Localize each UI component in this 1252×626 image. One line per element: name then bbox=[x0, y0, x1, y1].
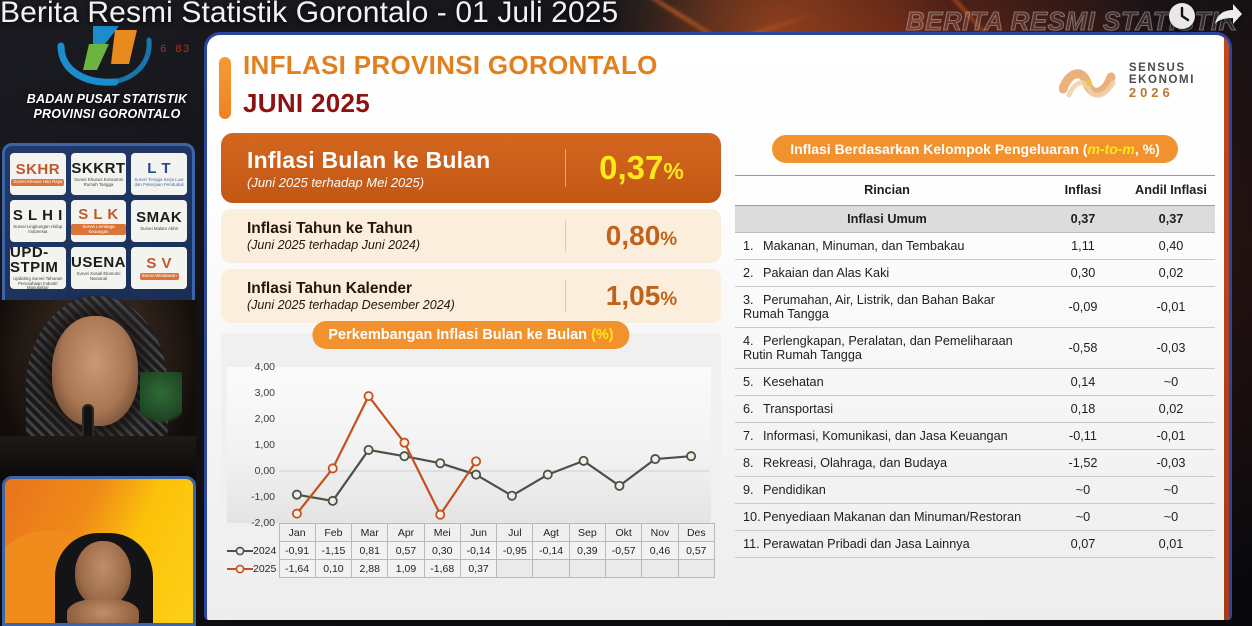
survey-card-sub: Survei Lembaga Keuangan bbox=[71, 224, 127, 236]
chart-value-cell: -0,57 bbox=[606, 542, 642, 560]
survey-card: S L KSurvei Lembaga Keuangan bbox=[71, 200, 127, 242]
card-sublabel: (Juni 2025 terhadap Juni 2024) bbox=[247, 238, 565, 252]
legend-label: 2025 bbox=[253, 563, 276, 575]
survey-card: UPD-STPIMUpdating Survei Tahunan Perusah… bbox=[10, 247, 66, 289]
video-action-bar bbox=[1166, 0, 1244, 32]
chart-value-cell: -1,64 bbox=[279, 560, 315, 578]
summary-name: Inflasi Umum bbox=[735, 206, 1039, 233]
slide-header: INFLASI PROVINSI GORONTALO JUNI 2025 SEN… bbox=[207, 35, 1229, 133]
summary-andil: 0,37 bbox=[1127, 206, 1215, 233]
chart-value-cell: -0,91 bbox=[279, 542, 315, 560]
left-column: Inflasi Bulan ke Bulan(Juni 2025 terhada… bbox=[221, 133, 721, 575]
expenditure-group-table: Rincian Inflasi Andil Inflasi Inflasi Um… bbox=[735, 175, 1215, 558]
col-header-inflasi: Inflasi bbox=[1039, 176, 1127, 206]
col-header-andil: Andil Inflasi bbox=[1127, 176, 1215, 206]
series-line-2025 bbox=[297, 396, 476, 515]
table-row: 8.Rekreasi, Olahraga, dan Budaya-1,52-0,… bbox=[735, 450, 1215, 477]
right-column: Inflasi Berdasarkan Kelompok Pengeluaran… bbox=[735, 133, 1215, 575]
legend-marker: 2025 bbox=[227, 563, 279, 575]
chart-value-cell bbox=[533, 560, 569, 578]
survey-card: SKHRSurvei Khusus Hari Raya bbox=[10, 153, 66, 195]
row-number: 6. bbox=[743, 402, 763, 416]
month-header: Nov bbox=[642, 524, 678, 542]
video-title: Berita Resmi Statistik Gorontalo - 01 Ju… bbox=[0, 0, 618, 30]
y-axis-tick: 0,00 bbox=[231, 465, 275, 477]
row-andil: ~0 bbox=[1127, 369, 1215, 396]
bps-logo: BADAN PUSAT STATISTIK PROVINSI GORONTALO bbox=[18, 16, 196, 122]
survey-card-sub: Survei Khusus Konsumsi Rumah Tangga bbox=[71, 178, 127, 188]
row-name: 10.Penyediaan Makanan dan Minuman/Restor… bbox=[735, 504, 1039, 531]
data-point-2024 bbox=[615, 482, 623, 490]
data-point-2024 bbox=[293, 491, 301, 499]
data-point-2025 bbox=[472, 457, 480, 465]
table-header-row: Rincian Inflasi Andil Inflasi bbox=[735, 176, 1215, 206]
row-number: 7. bbox=[743, 429, 763, 443]
table-body: Inflasi Umum0,370,371.Makanan, Minuman, … bbox=[735, 206, 1215, 558]
chart-value-cell: -0,14 bbox=[533, 542, 569, 560]
data-point-2024 bbox=[364, 446, 372, 454]
y-axis-tick: -2,00 bbox=[231, 517, 275, 529]
survey-card-code: SKHR bbox=[16, 162, 61, 177]
presenter-desk bbox=[0, 436, 196, 480]
row-number: 1. bbox=[743, 239, 763, 253]
sign-language-inset bbox=[2, 476, 196, 626]
month-header: Des bbox=[678, 524, 714, 542]
sensus-mark-icon bbox=[1059, 59, 1121, 103]
row-name: 6.Transportasi bbox=[735, 396, 1039, 423]
month-header: Okt bbox=[606, 524, 642, 542]
legend-marker: 2024 bbox=[227, 545, 279, 557]
table-row-summary: Inflasi Umum0,370,37 bbox=[735, 206, 1215, 233]
decorative-plant bbox=[140, 372, 182, 432]
clock-icon[interactable] bbox=[1166, 0, 1198, 32]
row-inflasi: -1,52 bbox=[1039, 450, 1127, 477]
survey-card-sub: Updating Survei Tahunan Perusahaan Indus… bbox=[10, 277, 66, 289]
card-calendar-year: Inflasi Tahun Kalender(Juni 2025 terhada… bbox=[221, 269, 721, 323]
legend-line-icon bbox=[227, 563, 253, 575]
chart-panel: Perkembangan Inflasi Bulan ke Bulan (%) … bbox=[221, 333, 721, 575]
survey-card: SMAKSurvei Malam Akhir bbox=[131, 200, 187, 242]
month-header: Sep bbox=[569, 524, 605, 542]
y-axis-tick: -1,00 bbox=[231, 491, 275, 503]
row-andil: ~0 bbox=[1127, 477, 1215, 504]
chart-value-cell bbox=[497, 560, 533, 578]
group-table-title: Inflasi Berdasarkan Kelompok Pengeluaran… bbox=[772, 135, 1178, 163]
video-stage: BADAN PUSAT STATISTIK PROVINSI GORONTALO… bbox=[0, 0, 1252, 626]
legend-2025: 2025 bbox=[227, 560, 279, 578]
group-title-italic: m-to-m bbox=[1087, 141, 1134, 157]
data-point-2024 bbox=[687, 452, 695, 460]
card-label: Inflasi Tahun Kalender bbox=[247, 280, 565, 298]
data-point-2024 bbox=[329, 497, 337, 505]
chart-table-header-row: JanFebMarAprMeiJunJulAgtSepOktNovDes bbox=[227, 524, 715, 542]
card-label: Inflasi Bulan ke Bulan bbox=[247, 147, 565, 174]
header-accent-bar bbox=[219, 57, 231, 119]
chart-value-cell: 2,88 bbox=[352, 560, 388, 578]
row-name: 3.Perumahan, Air, Listrik, dan Bahan Bak… bbox=[735, 287, 1039, 328]
survey-card-code: L T bbox=[147, 161, 171, 176]
card-sublabel: (Juni 2025 terhadap Mei 2025) bbox=[247, 175, 565, 190]
row-number: 2. bbox=[743, 266, 763, 280]
inflation-cards: Inflasi Bulan ke Bulan(Juni 2025 terhada… bbox=[221, 133, 721, 323]
month-header: Agt bbox=[533, 524, 569, 542]
bps-mark-icon bbox=[53, 20, 161, 90]
data-point-2024 bbox=[651, 455, 659, 463]
row-inflasi: 0,30 bbox=[1039, 260, 1127, 287]
row-inflasi: 0,07 bbox=[1039, 531, 1127, 558]
data-point-2024 bbox=[472, 471, 480, 479]
chart-value-cell: 0,39 bbox=[569, 542, 605, 560]
survey-card-grid: SKHRSurvei Khusus Hari RayaSKKRTSurvei K… bbox=[5, 146, 192, 296]
chart-value-cell: 1,09 bbox=[388, 560, 424, 578]
chart-value-cell: -1,15 bbox=[315, 542, 351, 560]
row-number: 9. bbox=[743, 483, 763, 497]
chart-value-cell: -1,68 bbox=[424, 560, 460, 578]
row-andil: 0,02 bbox=[1127, 396, 1215, 423]
row-andil: -0,01 bbox=[1127, 423, 1215, 450]
share-icon[interactable] bbox=[1212, 0, 1244, 32]
month-header: Feb bbox=[315, 524, 351, 542]
survey-card-sub: Survei Wisatawan bbox=[140, 273, 179, 280]
chart-series-svg bbox=[279, 367, 709, 523]
survey-card-code: S L H I bbox=[13, 208, 63, 223]
row-name: 7.Informasi, Komunikasi, dan Jasa Keuang… bbox=[735, 423, 1039, 450]
table-row: 7.Informasi, Komunikasi, dan Jasa Keuang… bbox=[735, 423, 1215, 450]
chart-data-table: JanFebMarAprMeiJunJulAgtSepOktNovDes2024… bbox=[227, 523, 715, 578]
chart-value-cell: 0,10 bbox=[315, 560, 351, 578]
data-point-2025 bbox=[293, 510, 301, 518]
chart-value-cell: 0,46 bbox=[642, 542, 678, 560]
survey-card-sub: Survei Khusus Hari Raya bbox=[11, 179, 64, 186]
data-point-2024 bbox=[544, 471, 552, 479]
data-point-2025 bbox=[400, 439, 408, 447]
card-label-block: Inflasi Tahun Kalender(Juni 2025 terhada… bbox=[225, 280, 565, 312]
row-name: 5.Kesehatan bbox=[735, 369, 1039, 396]
row-inflasi: -0,58 bbox=[1039, 328, 1127, 369]
data-point-2024 bbox=[579, 457, 587, 465]
table-row: 4.Perlengkapan, Peralatan, dan Pemelihar… bbox=[735, 328, 1215, 369]
month-header: Apr bbox=[388, 524, 424, 542]
presentation-slide: INFLASI PROVINSI GORONTALO JUNI 2025 SEN… bbox=[204, 32, 1232, 620]
table-row: 1.Makanan, Minuman, dan Tembakau1,110,40 bbox=[735, 233, 1215, 260]
survey-card: L TSurvei Tenaga Kerja Luar dan Pekerjaa… bbox=[131, 153, 187, 195]
month-header: Jan bbox=[279, 524, 315, 542]
survey-card-code: S V bbox=[146, 256, 172, 271]
row-andil: 0,40 bbox=[1127, 233, 1215, 260]
chart-value-cell bbox=[678, 560, 714, 578]
row-number: 5. bbox=[743, 375, 763, 389]
chart-title: Perkembangan Inflasi Bulan ke Bulan (%) bbox=[312, 321, 629, 349]
data-point-2025 bbox=[364, 392, 372, 400]
chart-plot-area: 4,003,002,001,000,00-1,00-2,00 bbox=[227, 367, 711, 523]
table-row: 6.Transportasi0,180,02 bbox=[735, 396, 1215, 423]
legend-2024: 2024 bbox=[227, 542, 279, 560]
legend-label: 2024 bbox=[253, 545, 276, 557]
chart-title-text: Perkembangan Inflasi Bulan ke Bulan bbox=[328, 327, 591, 343]
studio-clock-display: 6 83 bbox=[160, 44, 190, 56]
survey-card: S VSurvei Wisatawan bbox=[131, 247, 187, 289]
card-value-number: 0,37 bbox=[599, 149, 663, 186]
card-value-number: 0,80 bbox=[606, 220, 661, 251]
row-name: 8.Rekreasi, Olahraga, dan Budaya bbox=[735, 450, 1039, 477]
month-header: Mar bbox=[352, 524, 388, 542]
table-row: 10.Penyediaan Makanan dan Minuman/Restor… bbox=[735, 504, 1215, 531]
row-andil: 0,02 bbox=[1127, 260, 1215, 287]
bps-caption-line1: BADAN PUSAT STATISTIK bbox=[18, 92, 196, 107]
y-axis-tick: 4,00 bbox=[231, 361, 275, 373]
row-inflasi: ~0 bbox=[1039, 504, 1127, 531]
chart-value-cell: 0,30 bbox=[424, 542, 460, 560]
card-label-block: Inflasi Bulan ke Bulan(Juni 2025 terhada… bbox=[225, 147, 565, 190]
row-name: 9.Pendidikan bbox=[735, 477, 1039, 504]
row-name: 4.Perlengkapan, Peralatan, dan Pemelihar… bbox=[735, 328, 1039, 369]
row-andil: -0,03 bbox=[1127, 450, 1215, 477]
row-number: 8. bbox=[743, 456, 763, 470]
interpreter-face bbox=[75, 541, 131, 607]
survey-card: S L H ISurvei Lingkungan Hidup Indonesia bbox=[10, 200, 66, 242]
row-inflasi: 0,18 bbox=[1039, 396, 1127, 423]
card-value-unit: % bbox=[663, 158, 683, 184]
card-value: 1,05% bbox=[565, 280, 717, 312]
chart-table-row: 2024-0,91-1,150,810,570,30-0,14-0,95-0,1… bbox=[227, 542, 715, 560]
chart-value-cell: -0,95 bbox=[497, 542, 533, 560]
survey-card-code: UPD-STPIM bbox=[10, 247, 66, 275]
chart-value-cell bbox=[642, 560, 678, 578]
interpreter-hands bbox=[67, 599, 139, 626]
survey-card-sub: Survei Sosial Ekonomi Nasional bbox=[71, 272, 127, 282]
table-row: 2.Pakaian dan Alas Kaki0,300,02 bbox=[735, 260, 1215, 287]
survey-card-code: SUSENAS bbox=[71, 255, 127, 270]
survey-card-sub: Survei Tenaga Kerja Luar dan Pekerjaan P… bbox=[131, 178, 187, 188]
month-header: Jun bbox=[460, 524, 496, 542]
bps-caption-line2: PROVINSI GORONTALO bbox=[18, 107, 196, 122]
row-andil: -0,01 bbox=[1127, 287, 1215, 328]
data-point-2025 bbox=[436, 511, 444, 519]
col-header-rincian: Rincian bbox=[735, 176, 1039, 206]
month-header: Mei bbox=[424, 524, 460, 542]
group-title-main: Inflasi Berdasarkan Kelompok Pengeluaran… bbox=[790, 141, 1087, 157]
chart-table-row: 2025-1,640,102,881,09-1,680,37 bbox=[227, 560, 715, 578]
card-value: 0,80% bbox=[565, 220, 717, 252]
row-name: 11.Perawatan Pribadi dan Jasa Lainnya bbox=[735, 531, 1039, 558]
card-month-to-month: Inflasi Bulan ke Bulan(Juni 2025 terhada… bbox=[221, 133, 721, 203]
chart-value-cell: 0,57 bbox=[678, 542, 714, 560]
month-header: Jul bbox=[497, 524, 533, 542]
card-value-number: 1,05 bbox=[606, 280, 661, 311]
table-row: 5.Kesehatan0,14~0 bbox=[735, 369, 1215, 396]
survey-card-code: SMAK bbox=[136, 210, 182, 225]
card-label-block: Inflasi Tahun ke Tahun(Juni 2025 terhada… bbox=[225, 220, 565, 252]
survey-card-sub: Survei Malam Akhir bbox=[138, 227, 180, 232]
row-name: 2.Pakaian dan Alas Kaki bbox=[735, 260, 1039, 287]
card-year-on-year: Inflasi Tahun ke Tahun(Juni 2025 terhada… bbox=[221, 209, 721, 263]
y-axis-tick: 3,00 bbox=[231, 387, 275, 399]
series-line-2024 bbox=[297, 450, 691, 501]
chart-title-pct: (%) bbox=[591, 327, 614, 343]
data-point-2024 bbox=[436, 459, 444, 467]
data-point-2025 bbox=[329, 464, 337, 472]
card-label: Inflasi Tahun ke Tahun bbox=[247, 220, 565, 238]
table-row: 3.Perumahan, Air, Listrik, dan Bahan Bak… bbox=[735, 287, 1215, 328]
row-inflasi: -0,11 bbox=[1039, 423, 1127, 450]
sensus-line1: SENSUS bbox=[1129, 62, 1195, 74]
data-point-2024 bbox=[400, 452, 408, 460]
survey-card: SUSENASSurvei Sosial Ekonomi Nasional bbox=[71, 247, 127, 289]
group-title-tail: , %) bbox=[1135, 141, 1160, 157]
y-axis-tick: 1,00 bbox=[231, 439, 275, 451]
sensus-ekonomi-logo: SENSUS EKONOMI 2026 bbox=[1059, 59, 1195, 103]
row-andil: -0,03 bbox=[1127, 328, 1215, 369]
summary-inflasi: 0,37 bbox=[1039, 206, 1127, 233]
card-value: 0,37% bbox=[565, 149, 717, 187]
chart-value-cell bbox=[606, 560, 642, 578]
slide-edge-accent bbox=[1224, 35, 1229, 620]
survey-card-sub: Survei Lingkungan Hidup Indonesia bbox=[10, 225, 66, 235]
card-sublabel: (Juni 2025 terhadap Desember 2024) bbox=[247, 298, 565, 312]
data-point-2024 bbox=[508, 492, 516, 500]
row-number: 4. bbox=[743, 334, 763, 348]
row-number: 11. bbox=[743, 537, 763, 551]
chart-value-cell bbox=[569, 560, 605, 578]
chart-value-cell: 0,57 bbox=[388, 542, 424, 560]
row-inflasi: 1,11 bbox=[1039, 233, 1127, 260]
row-andil: 0,01 bbox=[1127, 531, 1215, 558]
row-name: 1.Makanan, Minuman, dan Tembakau bbox=[735, 233, 1039, 260]
legend-line-icon bbox=[227, 545, 253, 557]
y-axis-tick: 2,00 bbox=[231, 413, 275, 425]
row-number: 3. bbox=[743, 293, 763, 307]
row-inflasi: ~0 bbox=[1039, 477, 1127, 504]
row-inflasi: 0,14 bbox=[1039, 369, 1127, 396]
survey-card: SKKRTSurvei Khusus Konsumsi Rumah Tangga bbox=[71, 153, 127, 195]
table-row: 9.Pendidikan~0~0 bbox=[735, 477, 1215, 504]
chart-value-cell: -0,14 bbox=[460, 542, 496, 560]
row-inflasi: -0,09 bbox=[1039, 287, 1127, 328]
chart-value-cell: 0,81 bbox=[352, 542, 388, 560]
row-andil: ~0 bbox=[1127, 504, 1215, 531]
presenter-face bbox=[52, 316, 138, 426]
row-number: 10. bbox=[743, 510, 763, 524]
table-head: Rincian Inflasi Andil Inflasi bbox=[735, 176, 1215, 206]
survey-card-code: SKKRT bbox=[71, 161, 125, 176]
survey-card-code: S L K bbox=[78, 207, 119, 222]
card-value-unit: % bbox=[660, 289, 677, 310]
card-value-unit: % bbox=[660, 229, 677, 250]
table-row: 11.Perawatan Pribadi dan Jasa Lainnya0,0… bbox=[735, 531, 1215, 558]
sensus-line3: 2026 bbox=[1129, 86, 1195, 100]
chart-value-cell: 0,37 bbox=[460, 560, 496, 578]
